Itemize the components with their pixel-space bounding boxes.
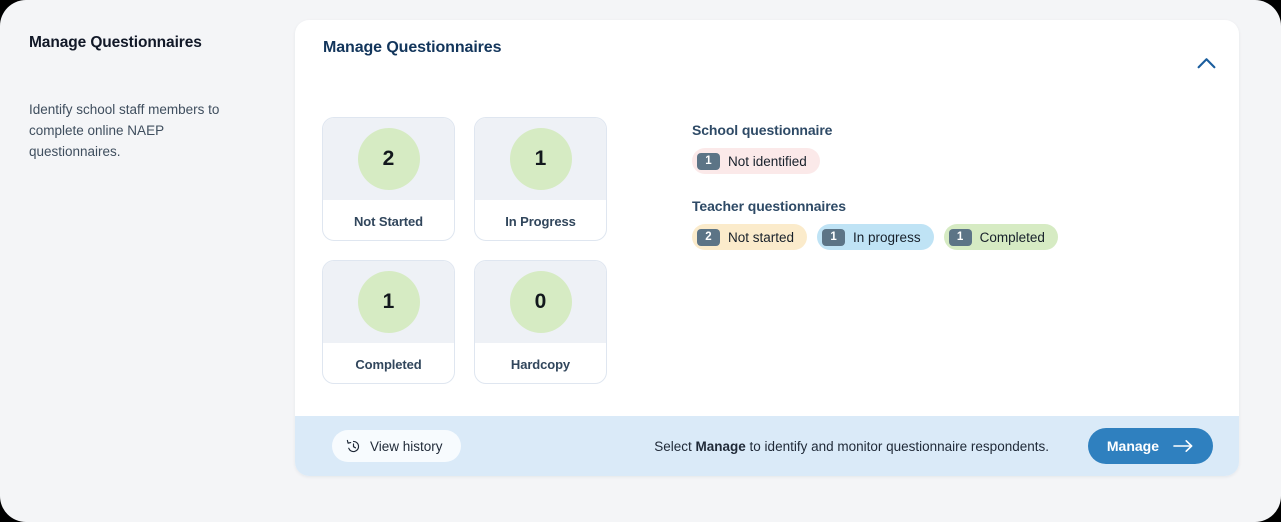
badge-count: 2 bbox=[697, 229, 720, 246]
arrow-right-icon bbox=[1173, 439, 1194, 453]
status-badge-in-progress[interactable]: 1 In progress bbox=[817, 224, 934, 250]
status-group-school: School questionnaire 1 Not identified bbox=[692, 122, 1212, 174]
stat-value: 2 bbox=[358, 128, 420, 190]
sidebar: Manage Questionnaires Identify school st… bbox=[29, 34, 269, 52]
status-groups: School questionnaire 1 Not identified Te… bbox=[692, 122, 1212, 250]
status-badge-completed[interactable]: 1 Completed bbox=[944, 224, 1058, 250]
badge-count: 1 bbox=[697, 153, 720, 170]
stat-label: In Progress bbox=[475, 200, 606, 241]
stat-tile-in-progress[interactable]: 1 In Progress bbox=[474, 117, 607, 241]
badge-row: 1 Not identified bbox=[692, 148, 1212, 174]
stat-value: 1 bbox=[510, 128, 572, 190]
page-shell: Manage Questionnaires Identify school st… bbox=[0, 0, 1281, 522]
history-clock-icon bbox=[346, 439, 361, 454]
card-title: Manage Questionnaires bbox=[323, 39, 501, 57]
footer-hint-emphasis: Manage bbox=[696, 439, 746, 454]
view-history-button[interactable]: View history bbox=[332, 430, 461, 462]
badge-label: Not started bbox=[728, 230, 794, 245]
stat-tile-not-started[interactable]: 2 Not Started bbox=[322, 117, 455, 241]
badge-count: 1 bbox=[949, 229, 972, 246]
sidebar-description: Identify school staff members to complet… bbox=[29, 99, 251, 162]
status-group-title: School questionnaire bbox=[692, 122, 1212, 138]
badge-row: 2 Not started 1 In progress 1 Completed bbox=[692, 224, 1212, 250]
badge-label: Completed bbox=[980, 230, 1045, 245]
chevron-up-icon bbox=[1197, 57, 1216, 69]
stat-tile-hardcopy[interactable]: 0 Hardcopy bbox=[474, 260, 607, 384]
stat-tile-top: 1 bbox=[323, 261, 454, 343]
stat-tile-top: 0 bbox=[475, 261, 606, 343]
footer-hint: Select Manage to identify and monitor qu… bbox=[654, 439, 1049, 454]
badge-label: Not identified bbox=[728, 154, 807, 169]
collapse-card-button[interactable] bbox=[1189, 50, 1223, 76]
manage-button[interactable]: Manage bbox=[1088, 428, 1213, 464]
stat-label: Hardcopy bbox=[475, 343, 606, 384]
badge-label: In progress bbox=[853, 230, 921, 245]
card-footer: View history Select Manage to identify a… bbox=[295, 416, 1239, 476]
badge-count: 1 bbox=[822, 229, 845, 246]
stat-value: 0 bbox=[510, 271, 572, 333]
view-history-label: View history bbox=[370, 439, 443, 454]
stat-tile-grid: 2 Not Started 1 In Progress 1 Completed bbox=[322, 117, 607, 384]
manage-questionnaires-card: Manage Questionnaires 2 Not Started bbox=[295, 20, 1239, 476]
status-group-title: Teacher questionnaires bbox=[692, 198, 1212, 214]
stat-label: Completed bbox=[323, 343, 454, 384]
footer-hint-prefix: Select bbox=[654, 439, 695, 454]
status-group-teacher: Teacher questionnaires 2 Not started 1 I… bbox=[692, 198, 1212, 250]
stat-tile-completed[interactable]: 1 Completed bbox=[322, 260, 455, 384]
status-badge-not-identified[interactable]: 1 Not identified bbox=[692, 148, 820, 174]
stat-tile-top: 2 bbox=[323, 118, 454, 200]
sidebar-title: Manage Questionnaires bbox=[29, 34, 269, 52]
manage-button-label: Manage bbox=[1107, 438, 1159, 454]
status-badge-not-started[interactable]: 2 Not started bbox=[692, 224, 807, 250]
card-body: 2 Not Started 1 In Progress 1 Completed bbox=[295, 82, 1239, 416]
card-header: Manage Questionnaires bbox=[295, 20, 1239, 82]
stat-label: Not Started bbox=[323, 200, 454, 241]
stat-value: 1 bbox=[358, 271, 420, 333]
stat-tile-top: 1 bbox=[475, 118, 606, 200]
footer-hint-suffix: to identify and monitor questionnaire re… bbox=[746, 439, 1049, 454]
